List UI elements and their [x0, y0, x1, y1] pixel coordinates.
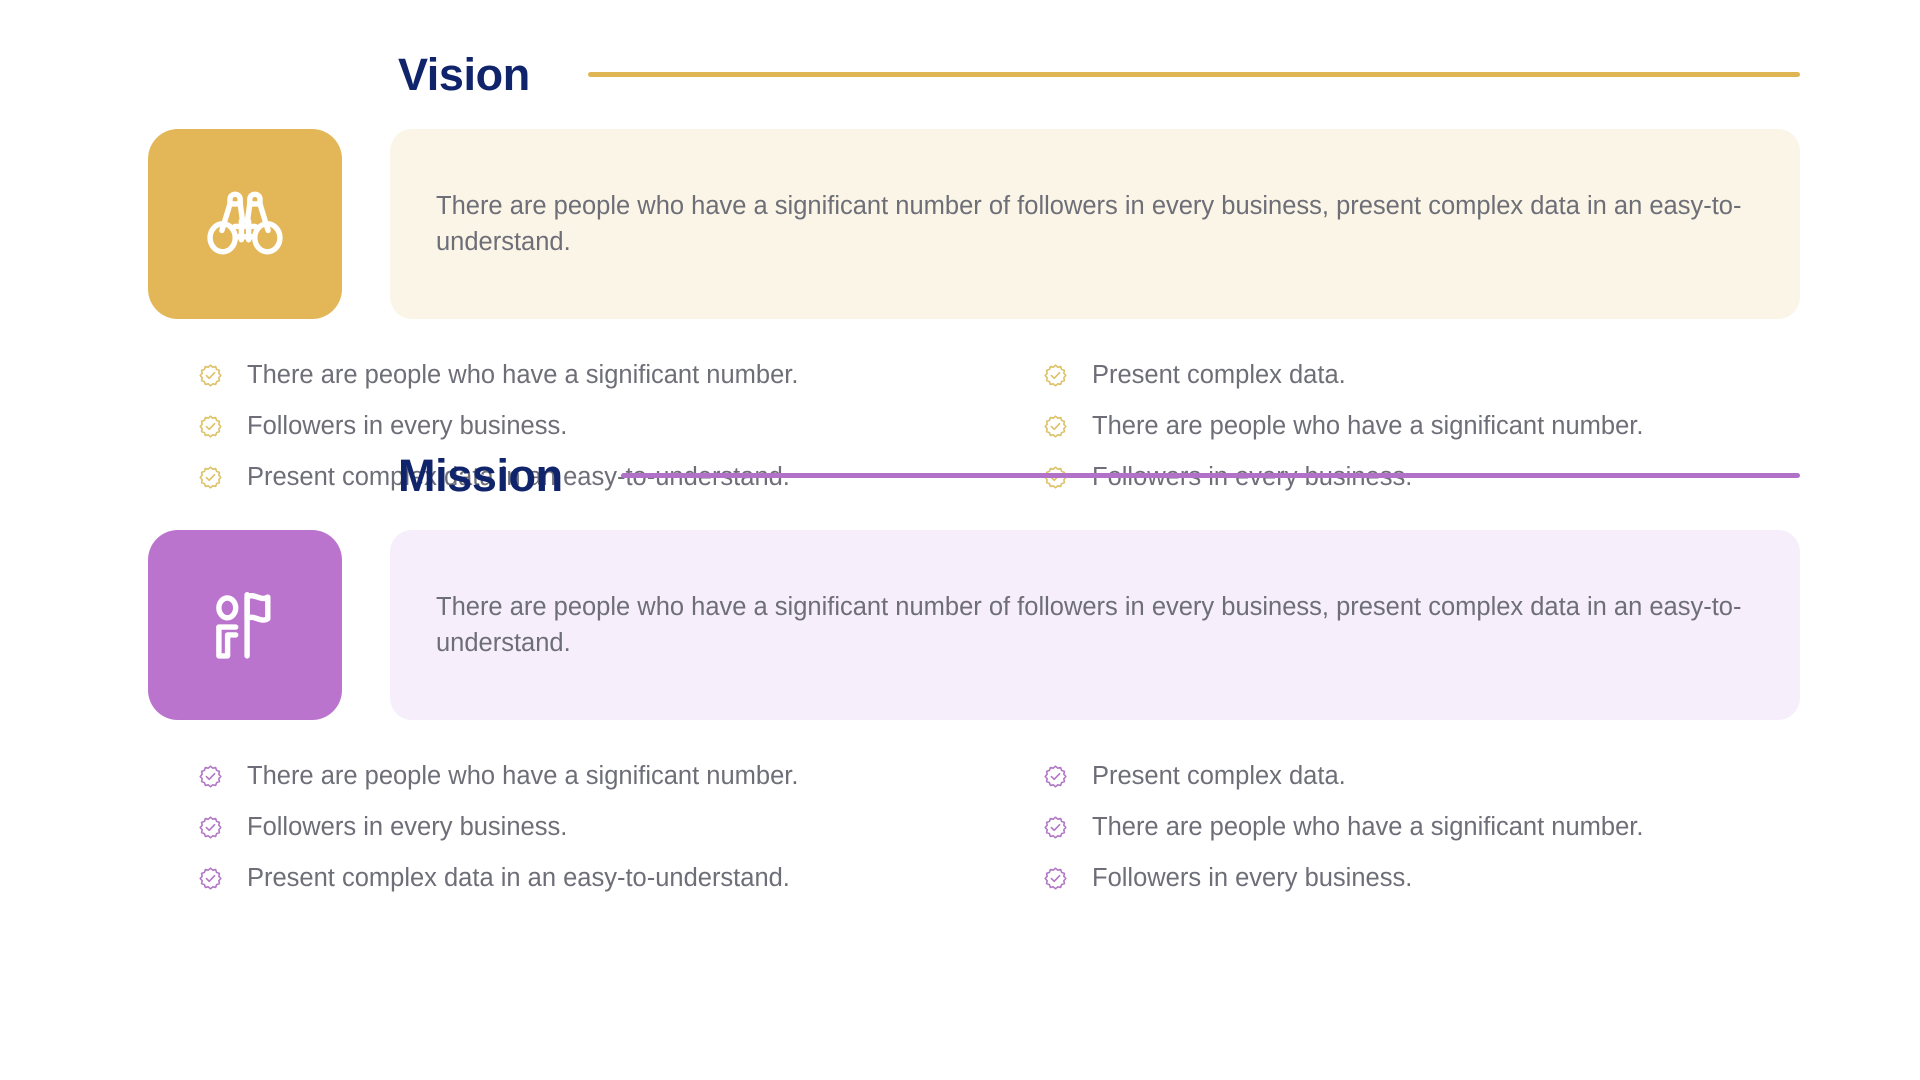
- list-item-label: Present complex data in an easy-to-under…: [247, 864, 790, 892]
- mission-icon-tile: [148, 530, 342, 720]
- list-item-label: Present complex data.: [1092, 361, 1346, 389]
- list-item: Present complex data.: [1043, 350, 1800, 401]
- verified-check-badge-icon: [198, 414, 223, 439]
- list-item-label: There are people who have a significant …: [1092, 412, 1643, 440]
- list-item-label: Present complex data.: [1092, 762, 1346, 790]
- vision-hero-row: There are people who have a significant …: [148, 129, 1800, 319]
- list-item: Followers in every business.: [198, 802, 1043, 853]
- mission-title: Mission: [398, 453, 563, 498]
- list-item: Present complex data in an easy-to-under…: [198, 853, 1043, 904]
- verified-check-badge-icon: [1043, 866, 1068, 891]
- mission-section-header: Mission: [398, 453, 1800, 498]
- list-item-label: Followers in every business.: [247, 813, 567, 841]
- list-item: Followers in every business.: [198, 401, 1043, 452]
- person-with-flag-icon: [197, 577, 293, 673]
- vision-section-header: Vision: [398, 52, 1800, 97]
- verified-check-badge-icon: [198, 815, 223, 840]
- vision-divider-rule: [588, 72, 1800, 77]
- mission-description-card: There are people who have a significant …: [390, 530, 1800, 720]
- list-item: There are people who have a significant …: [198, 350, 1043, 401]
- vision-description-text: There are people who have a significant …: [436, 188, 1748, 260]
- binoculars-icon: [197, 176, 293, 272]
- mission-bullet-grid: There are people who have a significant …: [198, 751, 1800, 904]
- list-item: Present complex data.: [1043, 751, 1800, 802]
- list-item-label: There are people who have a significant …: [1092, 813, 1643, 841]
- list-item-label: Followers in every business.: [247, 412, 567, 440]
- list-item: Followers in every business.: [1043, 853, 1800, 904]
- list-item: There are people who have a significant …: [198, 751, 1043, 802]
- mission-divider-rule: [621, 473, 1800, 478]
- vision-icon-tile: [148, 129, 342, 319]
- mission-section: Mission There are people who have a sign…: [148, 453, 1800, 904]
- verified-check-badge-icon: [1043, 363, 1068, 388]
- verified-check-badge-icon: [198, 866, 223, 891]
- verified-check-badge-icon: [1043, 414, 1068, 439]
- list-item-label: Followers in every business.: [1092, 864, 1412, 892]
- list-item-label: There are people who have a significant …: [247, 361, 798, 389]
- vision-description-card: There are people who have a significant …: [390, 129, 1800, 319]
- verified-check-badge-icon: [1043, 764, 1068, 789]
- list-item: There are people who have a significant …: [1043, 802, 1800, 853]
- slide-canvas: Vision: [0, 0, 1920, 1080]
- list-item: There are people who have a significant …: [1043, 401, 1800, 452]
- mission-hero-row: There are people who have a significant …: [148, 530, 1800, 720]
- verified-check-badge-icon: [1043, 815, 1068, 840]
- list-item-label: There are people who have a significant …: [247, 762, 798, 790]
- verified-check-badge-icon: [198, 363, 223, 388]
- vision-title: Vision: [398, 52, 530, 97]
- mission-description-text: There are people who have a significant …: [436, 589, 1748, 661]
- verified-check-badge-icon: [198, 764, 223, 789]
- vision-section: Vision: [148, 52, 1800, 503]
